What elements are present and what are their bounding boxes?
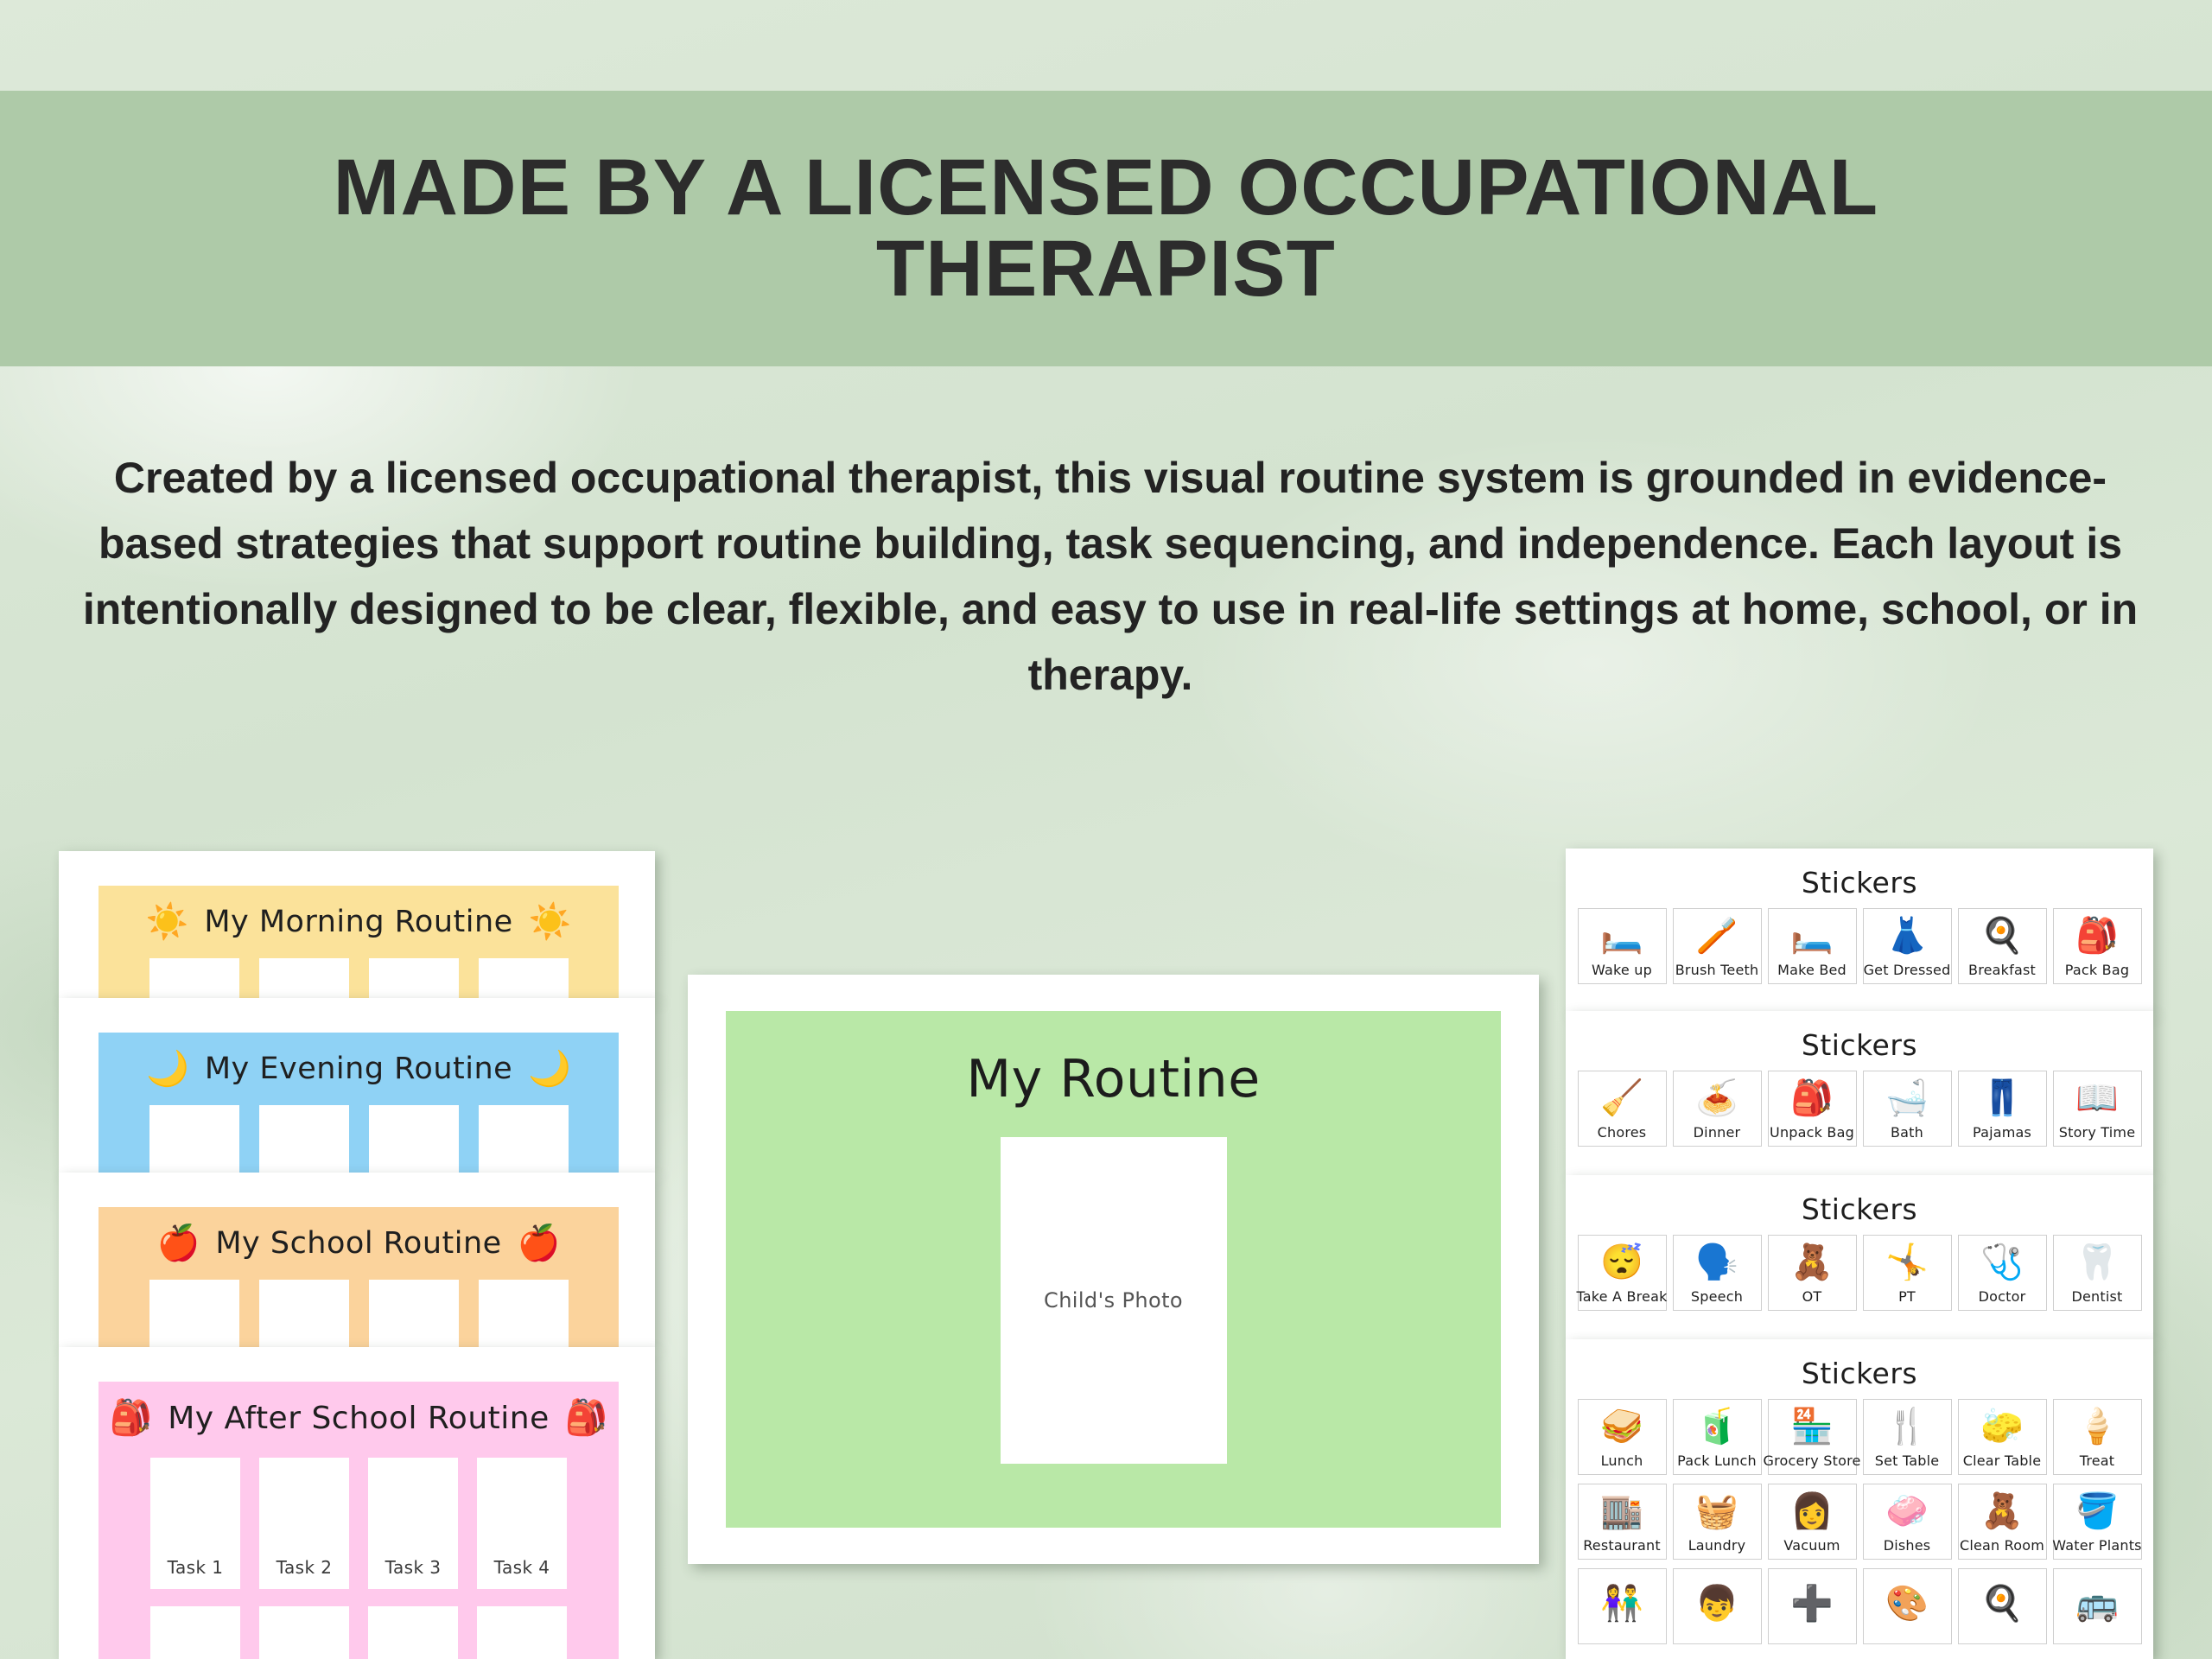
sticker-label: Lunch	[1601, 1452, 1643, 1469]
header-banner: MADE BY A LICENSED OCCUPATIONAL THERAPIS…	[0, 91, 2212, 366]
sticker-row: 🧹Chores 🍝Dinner 🎒Unpack Bag 🛁Bath 👖Pajam…	[1566, 1062, 2153, 1147]
sticker-label: Set Table	[1875, 1452, 1940, 1469]
sticker-label: Pack Bag	[2065, 962, 2129, 978]
backpack-icon: 🎒	[109, 1401, 152, 1435]
cooking-pot-icon: 🍳	[1980, 1569, 2024, 1638]
sticker-label: Take A Break	[1576, 1288, 1667, 1305]
sticker-label: Pack Lunch	[1677, 1452, 1757, 1469]
child-in-pajamas-icon: 👖	[1980, 1071, 2024, 1124]
child-face-icon: 👦	[1695, 1569, 1738, 1638]
task-label: Task 2	[276, 1557, 333, 1578]
sticker-card[interactable]: 🍳Breakfast	[1958, 908, 2047, 984]
occupational-therapy-icon: 🧸	[1790, 1236, 1834, 1288]
family-reading-icon: 📖	[2075, 1071, 2119, 1124]
child-photo-placeholder[interactable]: Child's Photo	[1001, 1137, 1227, 1464]
restaurant-building-icon: 🏬	[1600, 1484, 1643, 1537]
sticker-label: Dishes	[1884, 1537, 1931, 1554]
child-brushing-teeth-icon: 🪥	[1695, 909, 1738, 962]
task-slot[interactable]: Task 3	[369, 958, 459, 1000]
task-slot[interactable]: Task 3	[368, 1458, 458, 1589]
sticker-row-partial: 👫 👦 ➕ 🎨 🍳 🚌	[1566, 1560, 2153, 1644]
made-bed-icon: 🛏️	[1790, 909, 1834, 962]
sun-sunglasses-icon: ☀️	[146, 905, 189, 939]
sticker-sheet-daily-living[interactable]: Stickers 🥪Lunch 🧃Pack Lunch 🏪Grocery Sto…	[1566, 1339, 2153, 1659]
sticker-card[interactable]: 🪥Brush Teeth	[1673, 908, 1762, 984]
task-row-after-school-2: Task 5 Task 6 Task 7 Task 8	[99, 1606, 619, 1659]
sticker-label: Dinner	[1694, 1124, 1741, 1141]
sticker-card[interactable]: 👗Get Dressed	[1863, 908, 1952, 984]
routine-card-morning[interactable]: ☀️ My Morning Routine ☀️ Task 1 Task 2 T…	[59, 851, 655, 1000]
sticker-label: Clean Room	[1960, 1537, 2044, 1554]
sticker-label: Doctor	[1979, 1288, 2026, 1305]
child-dressed-icon: 👗	[1885, 909, 1929, 962]
lunch-plate-icon: 🥪	[1600, 1400, 1643, 1452]
child-at-easel-icon: 🎨	[1885, 1569, 1929, 1638]
task-slot[interactable]: Task 4	[479, 958, 569, 1000]
sticker-sheets-stack: Stickers 🛏️Wake up 🪥Brush Teeth 🛏️Make B…	[1566, 849, 2153, 1659]
sticker-card[interactable]: 🏬Restaurant	[1578, 1484, 1667, 1560]
sticker-card[interactable]: 🤸PT	[1863, 1235, 1952, 1311]
sticker-sheet-morning[interactable]: Stickers 🛏️Wake up 🪥Brush Teeth 🛏️Make B…	[1566, 849, 2153, 1013]
sticker-card[interactable]: 🚌	[2053, 1568, 2142, 1644]
ice-cream-cone-icon: 🍦	[2075, 1400, 2119, 1452]
sticker-card[interactable]: 🧽Clear Table	[1958, 1399, 2047, 1475]
plus-minus-choice-icon: ➕	[1790, 1569, 1834, 1638]
task-row-evening: Task 1 Task 2 Task 3 Task 4	[99, 1105, 619, 1173]
sticker-label: Vacuum	[1783, 1537, 1840, 1554]
sticker-card[interactable]: 🍳	[1958, 1568, 2047, 1644]
my-routine-photo-card[interactable]: My Routine Child's Photo	[688, 975, 1539, 1564]
sticker-sheet-evening[interactable]: Stickers 🧹Chores 🍝Dinner 🎒Unpack Bag 🛁Ba…	[1566, 1011, 2153, 1175]
children-sweeping-icon: 🧹	[1600, 1071, 1643, 1124]
sticker-sheet-title: Stickers	[1566, 1011, 2153, 1062]
task-slot[interactable]: Task 5	[150, 1606, 240, 1659]
routine-title-morning: My Morning Routine	[204, 905, 512, 939]
sticker-label: Brush Teeth	[1675, 962, 1759, 978]
breakfast-plate-icon: 🍳	[1980, 909, 2024, 962]
laundry-basket-icon: 🧺	[1695, 1484, 1738, 1537]
task-slot[interactable]: Task 2	[259, 1105, 349, 1173]
sticker-card[interactable]: 🧹Chores	[1578, 1071, 1667, 1147]
sticker-card[interactable]: 😴Take A Break	[1578, 1235, 1667, 1311]
sticker-label: Dentist	[2071, 1288, 2122, 1305]
sticker-card[interactable]: 🩺Doctor	[1958, 1235, 2047, 1311]
sticker-label: Unpack Bag	[1770, 1124, 1854, 1141]
sticker-label: OT	[1802, 1288, 1822, 1305]
task-label: Task 4	[494, 1557, 550, 1578]
task-slot[interactable]: Task 2	[259, 1458, 349, 1589]
task-slot[interactable]: Task 1	[149, 958, 239, 1000]
spaghetti-plate-icon: 🍝	[1695, 1071, 1738, 1124]
task-row-morning: Task 1 Task 2 Task 3 Task 4	[99, 958, 619, 1000]
task-slot[interactable]: Task 6	[259, 1606, 349, 1659]
sticker-card[interactable]: 🗣️Speech	[1673, 1235, 1762, 1311]
apple-icon: 🍎	[157, 1226, 200, 1261]
sticker-card[interactable]: 🥪Lunch	[1578, 1399, 1667, 1475]
sticker-row: 🥪Lunch 🧃Pack Lunch 🏪Grocery Store 🍴Set T…	[1566, 1390, 2153, 1475]
sticker-card[interactable]: 👫	[1578, 1568, 1667, 1644]
tooth-icon: 🦷	[2075, 1236, 2119, 1288]
task-slot[interactable]: Task 7	[368, 1606, 458, 1659]
sticker-label: Bath	[1891, 1124, 1923, 1141]
task-slot[interactable]: Task 1	[150, 1458, 240, 1589]
sticker-label: Wake up	[1592, 962, 1652, 978]
routine-header-morning: ☀️ My Morning Routine ☀️	[99, 886, 619, 958]
sticker-label: Make Bed	[1777, 962, 1847, 978]
routine-cards-stack: ☀️ My Morning Routine ☀️ Task 1 Task 2 T…	[59, 851, 655, 1659]
sticker-card[interactable]: 👦	[1673, 1568, 1762, 1644]
sticker-card[interactable]: 👩Vacuum	[1768, 1484, 1857, 1560]
sticker-label: Laundry	[1688, 1537, 1746, 1554]
sticker-sheet-title: Stickers	[1566, 849, 2153, 899]
sticker-card[interactable]: 🛁Bath	[1863, 1071, 1952, 1147]
sticker-card[interactable]: 🧼Dishes	[1863, 1484, 1952, 1560]
routine-title-evening: My Evening Routine	[205, 1052, 512, 1086]
backpack-icon: 🎒	[565, 1401, 608, 1435]
sticker-card[interactable]: 🍴Set Table	[1863, 1399, 1952, 1475]
task-slot[interactable]: Task 4	[479, 1280, 569, 1347]
task-slot[interactable]: Task 4	[477, 1458, 567, 1589]
task-slot[interactable]: Task 1	[149, 1105, 239, 1173]
backpack-icon: 🎒	[2075, 909, 2119, 962]
sticker-card[interactable]: 🧸OT	[1768, 1235, 1857, 1311]
task-label: Task 1	[168, 1557, 224, 1578]
routine-title-school: My School Routine	[215, 1226, 501, 1261]
task-label: Task 3	[385, 1557, 442, 1578]
routine-header-school: 🍎 My School Routine 🍎	[99, 1207, 619, 1280]
routine-card-school[interactable]: 🍎 My School Routine 🍎 Task 1 Task 2 Task…	[59, 1173, 655, 1347]
sticker-card[interactable]: 👖Pajamas	[1958, 1071, 2047, 1147]
sticker-card[interactable]: 🎨	[1863, 1568, 1952, 1644]
task-row-school: Task 1 Task 2 Task 3 Task 4	[99, 1280, 619, 1347]
sticker-card[interactable]: ➕	[1768, 1568, 1857, 1644]
sticker-card[interactable]: 🍝Dinner	[1673, 1071, 1762, 1147]
sticker-sheet-therapy[interactable]: Stickers 😴Take A Break 🗣️Speech 🧸OT 🤸PT …	[1566, 1175, 2153, 1339]
sticker-label: Chores	[1598, 1124, 1647, 1141]
routine-band-after-school: 🎒 My After School Routine 🎒 Task 1 Task …	[99, 1382, 619, 1659]
speech-therapy-cards-icon: 🗣️	[1695, 1236, 1738, 1288]
crescent-moon-icon: 🌙	[528, 1052, 571, 1086]
sticker-card[interactable]: 🎒Unpack Bag	[1768, 1071, 1857, 1147]
task-slot[interactable]: Task 2	[259, 1280, 349, 1347]
sticker-card[interactable]: 🎒Pack Bag	[2053, 908, 2142, 984]
sticker-card[interactable]: 🧺Laundry	[1673, 1484, 1762, 1560]
sticker-row: 🏬Restaurant 🧺Laundry 👩Vacuum 🧼Dishes 🧸Cl…	[1566, 1475, 2153, 1560]
sticker-card[interactable]: 🦷Dentist	[2053, 1235, 2142, 1311]
description-paragraph: Created by a licensed occupational thera…	[60, 445, 2160, 708]
routine-title-after-school: My After School Routine	[168, 1401, 549, 1436]
sticker-label: PT	[1898, 1288, 1916, 1305]
routine-header-evening: 🌙 My Evening Routine 🌙	[99, 1033, 619, 1105]
sticker-card[interactable]: 🏪Grocery Store	[1768, 1399, 1857, 1475]
child-photo-label: Child's Photo	[1044, 1288, 1183, 1313]
sticker-label: Get Dressed	[1864, 962, 1951, 978]
task-slot[interactable]: Task 2	[259, 958, 349, 1000]
routine-card-after-school[interactable]: 🎒 My After School Routine 🎒 Task 1 Task …	[59, 1347, 655, 1659]
lunch-box-icon: 🧃	[1695, 1400, 1738, 1452]
sticker-label: Water Plants	[2052, 1537, 2141, 1554]
routine-band-morning: ☀️ My Morning Routine ☀️ Task 1 Task 2 T…	[99, 886, 619, 1000]
my-routine-green-panel: My Routine Child's Photo	[726, 1011, 1501, 1528]
sticker-label: Clear Table	[1963, 1452, 2042, 1469]
two-children-icon: 👫	[1600, 1569, 1643, 1638]
sticker-card[interactable]: 🛏️Wake up	[1578, 908, 1667, 984]
physical-therapy-icon: 🤸	[1885, 1236, 1929, 1288]
sticker-sheet-title: Stickers	[1566, 1339, 2153, 1390]
sticker-row: 😴Take A Break 🗣️Speech 🧸OT 🤸PT 🩺Doctor 🦷…	[1566, 1226, 2153, 1311]
page-title: MADE BY A LICENSED OCCUPATIONAL THERAPIS…	[134, 148, 2078, 310]
child-wiping-table-icon: 🧽	[1980, 1400, 2024, 1452]
routine-card-evening[interactable]: 🌙 My Evening Routine 🌙 Task 1 Task 2 Tas…	[59, 998, 655, 1173]
sun-sunglasses-icon: ☀️	[529, 905, 572, 939]
task-slot[interactable]: Task 3	[369, 1105, 459, 1173]
routine-header-after-school: 🎒 My After School Routine 🎒	[99, 1382, 619, 1454]
cutlery-icon: 🍴	[1885, 1400, 1929, 1452]
sticker-card[interactable]: 📖Story Time	[2053, 1071, 2142, 1147]
vacuum-cleaner-icon: 👩	[1790, 1484, 1834, 1537]
routine-band-evening: 🌙 My Evening Routine 🌙 Task 1 Task 2 Tas…	[99, 1033, 619, 1173]
sticker-label: Breakfast	[1968, 962, 2036, 978]
sticker-label: Pajamas	[1973, 1124, 2031, 1141]
open-backpack-icon: 🎒	[1790, 1071, 1834, 1124]
task-slot[interactable]: Task 3	[369, 1280, 459, 1347]
tidying-room-icon: 🧸	[1980, 1484, 2024, 1537]
my-routine-title: My Routine	[966, 1049, 1260, 1109]
task-slot[interactable]: Task 1	[149, 1280, 239, 1347]
task-slot[interactable]: Task 8	[477, 1606, 567, 1659]
routine-band-school: 🍎 My School Routine 🍎 Task 1 Task 2 Task…	[99, 1207, 619, 1347]
sticker-label: Speech	[1691, 1288, 1743, 1305]
sticker-card[interactable]: 🧸Clean Room	[1958, 1484, 2047, 1560]
sticker-sheet-title: Stickers	[1566, 1175, 2153, 1226]
sticker-card[interactable]: 🍦Treat	[2053, 1399, 2142, 1475]
task-row-after-school-1: Task 1 Task 2 Task 3 Task 4	[99, 1458, 619, 1589]
washing-dishes-icon: 🧼	[1885, 1484, 1929, 1537]
child-waking-in-bed-icon: 🛏️	[1600, 909, 1643, 962]
bathtub-icon: 🛁	[1885, 1071, 1929, 1124]
sticker-card[interactable]: 🧃Pack Lunch	[1673, 1399, 1762, 1475]
sticker-row: 🛏️Wake up 🪥Brush Teeth 🛏️Make Bed 👗Get D…	[1566, 899, 2153, 984]
sticker-label: Restaurant	[1583, 1537, 1661, 1554]
sticker-card[interactable]: 🪣Water Plants	[2053, 1484, 2142, 1560]
crescent-moon-icon: 🌙	[146, 1052, 189, 1086]
apple-icon: 🍎	[518, 1226, 561, 1261]
sticker-label: Grocery Store	[1763, 1452, 1860, 1469]
child-resting-on-mat-icon: 😴	[1600, 1236, 1643, 1288]
task-slot[interactable]: Task 4	[479, 1105, 569, 1173]
doctor-stethoscope-icon: 🩺	[1980, 1236, 2024, 1288]
school-bus-icon: 🚌	[2075, 1569, 2119, 1638]
sticker-label: Story Time	[2059, 1124, 2136, 1141]
grocery-store-icon: 🏪	[1790, 1400, 1834, 1452]
sticker-card[interactable]: 🛏️Make Bed	[1768, 908, 1857, 984]
sticker-label: Treat	[2080, 1452, 2115, 1469]
watering-can-icon: 🪣	[2075, 1484, 2119, 1537]
